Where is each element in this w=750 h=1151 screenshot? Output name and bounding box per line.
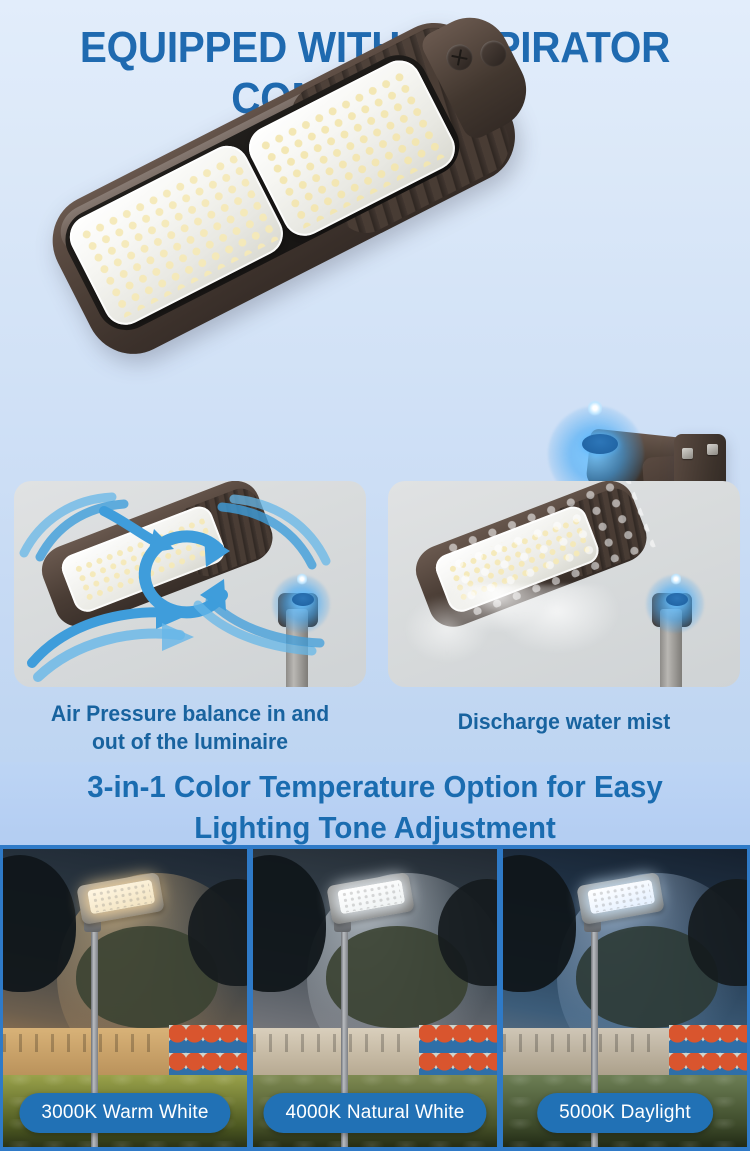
breather-vent-ring (582, 434, 618, 454)
cct-photo-5000k[interactable]: 5000K Daylight (500, 845, 750, 1151)
cct-photo-3000k[interactable]: 3000K Warm White (0, 845, 250, 1151)
cct-title-line-2: Lighting Tone Adjustment (19, 808, 732, 849)
product-feature-page: EQUIPPED WITH RESPIRATOR COMPONENTS (0, 0, 750, 1151)
lamp-lens (587, 879, 655, 914)
bracket-bolt (682, 448, 693, 459)
breather-vent-spark-icon (671, 573, 681, 585)
airflow-arrow-icon (192, 601, 322, 671)
cct-badge-4000k[interactable]: 4000K Natural White (263, 1093, 486, 1133)
breather-vent-spark-icon (588, 400, 602, 416)
caption-line-2: out of the luminaire (21, 728, 359, 756)
water-mist-plume (402, 585, 652, 685)
caption-line-1: Discharge water mist (395, 708, 733, 736)
breather-vent-ring (666, 593, 688, 606)
cct-title-line-1: 3-in-1 Color Temperature Option for Easy (19, 767, 732, 808)
cct-photo-strip: 3000K Warm White 4000K Natural White (0, 845, 750, 1151)
feature-caption-airflow: Air Pressure balance in and out of the l… (21, 700, 359, 756)
mural-wall (419, 1025, 497, 1082)
cct-badge-3000k[interactable]: 3000K Warm White (19, 1093, 230, 1133)
cct-photo-4000k[interactable]: 4000K Natural White (250, 845, 500, 1151)
lamp-lens (87, 879, 155, 914)
mural-wall (669, 1025, 747, 1082)
mural-wall (169, 1025, 247, 1082)
cct-badge-5000k[interactable]: 5000K Daylight (537, 1093, 713, 1133)
feature-card-water-mist (388, 481, 740, 687)
breather-vent-spark-icon (297, 573, 307, 585)
lamp-lens (337, 879, 405, 914)
hero-product-image (48, 104, 708, 474)
bracket-bolt (707, 444, 718, 455)
feature-caption-water-mist: Discharge water mist (395, 708, 733, 736)
feature-card-airflow (14, 481, 366, 687)
airflow-arrow-icon (28, 601, 208, 681)
caption-line-1: Air Pressure balance in and (21, 700, 359, 728)
cct-section-title: 3-in-1 Color Temperature Option for Easy… (19, 767, 732, 849)
